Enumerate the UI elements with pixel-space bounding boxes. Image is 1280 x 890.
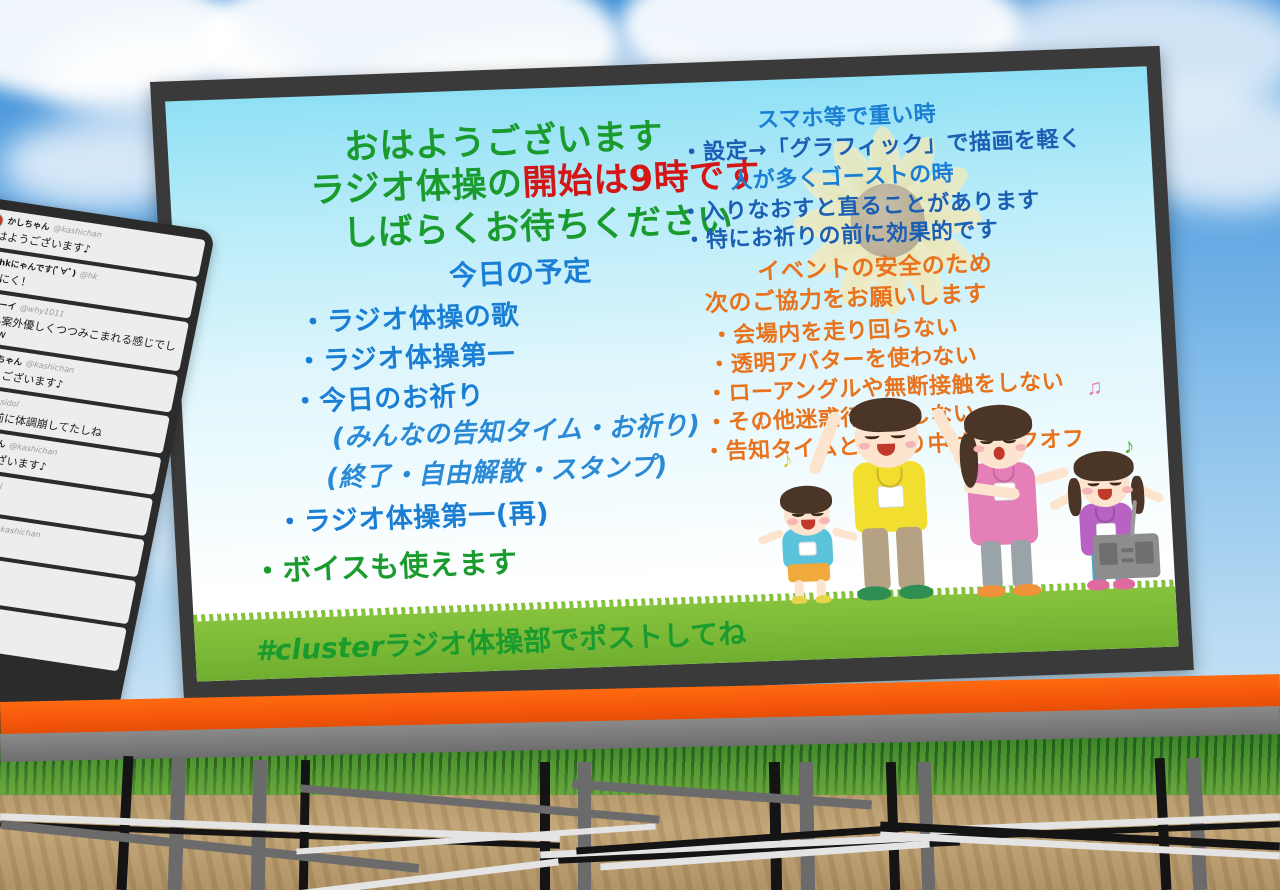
chat-username: ワーイ bbox=[0, 300, 17, 313]
vr-scene: おはようございます ラジオ体操の開始は9時です しばらくお待ちください 今日の予… bbox=[0, 0, 1280, 890]
scaffold-post bbox=[540, 762, 550, 890]
schedule-title: 今日の予定 bbox=[448, 249, 593, 294]
billboard: おはようございます ラジオ体操の開始は9時です しばらくお待ちください 今日の予… bbox=[150, 46, 1194, 706]
schedule-item-1: ・ラジオ体操第一 bbox=[294, 332, 516, 379]
scaffold-post bbox=[769, 762, 782, 890]
voice-note: ・ボイスも使えます bbox=[252, 539, 519, 590]
family-illustration: ♪ ♪ ♪ ♫ ♪ bbox=[733, 356, 1166, 606]
music-note-icon: ♪ bbox=[753, 410, 765, 436]
chat-handle: @kashichan bbox=[0, 525, 41, 541]
music-note-icon: ♪ bbox=[781, 447, 793, 473]
adult-man-figure bbox=[830, 384, 952, 603]
adult-woman-figure bbox=[947, 395, 1058, 598]
radio-icon bbox=[1092, 533, 1160, 579]
poster: おはようございます ラジオ体操の開始は9時です しばらくお待ちください 今日の予… bbox=[165, 66, 1178, 681]
chat-handle: @hk bbox=[79, 271, 98, 282]
music-note-icon: ♫ bbox=[1085, 374, 1103, 401]
scaffold-post bbox=[799, 762, 815, 890]
chat-username: かしちゃん bbox=[0, 435, 6, 450]
schedule-item-3: ・ラジオ体操第一(再) bbox=[275, 491, 550, 540]
chat-username: かしちゃん bbox=[0, 353, 23, 368]
hashtag-cluster: #cluster bbox=[255, 630, 385, 668]
chat-handle: @twinsidol bbox=[0, 477, 3, 492]
avatar bbox=[0, 212, 5, 229]
chat-handle: @twinsidol bbox=[0, 395, 19, 410]
